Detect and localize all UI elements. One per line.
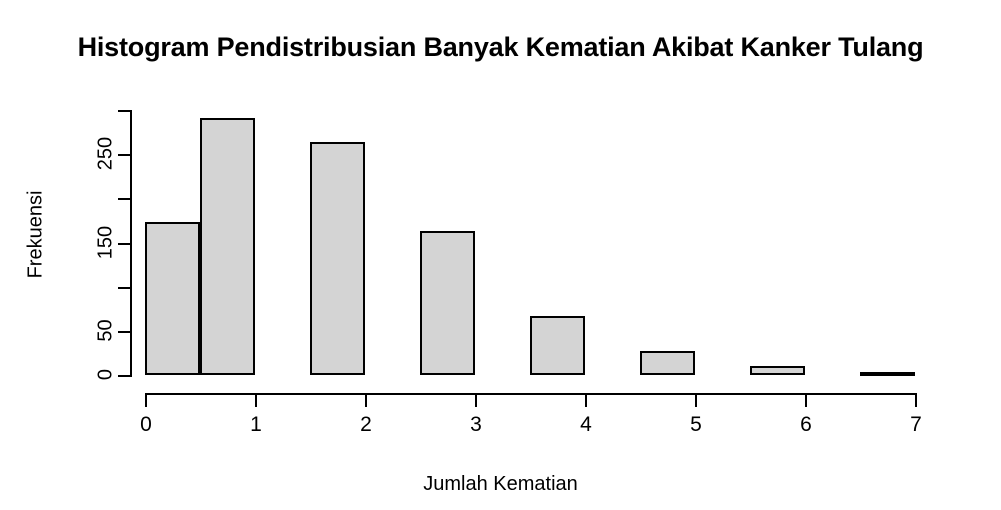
- histogram-bar: [145, 222, 200, 375]
- x-axis-tick: [255, 393, 257, 407]
- x-axis-tick-label: 0: [126, 413, 166, 437]
- y-axis-tick: [118, 287, 132, 289]
- histogram-bar: [530, 316, 585, 375]
- x-axis-tick-label: 4: [566, 413, 606, 437]
- y-axis-tick: [118, 154, 132, 156]
- x-axis-tick: [475, 393, 477, 407]
- histogram-bar: [310, 142, 365, 375]
- x-axis-tick: [585, 393, 587, 407]
- x-axis-tick-label: 6: [786, 413, 826, 437]
- histogram-bar: [860, 372, 915, 376]
- x-axis-tick-label: 3: [456, 413, 496, 437]
- x-axis-tick-label: 7: [896, 413, 936, 437]
- x-axis-tick: [365, 393, 367, 407]
- x-axis-tick: [915, 393, 917, 407]
- histogram-plot: Histogram Pendistribusian Banyak Kematia…: [0, 0, 1001, 510]
- y-axis-tick-label: 250: [95, 124, 118, 184]
- y-axis-tick-label: 50: [95, 300, 118, 360]
- x-axis-tick-label: 1: [236, 413, 276, 437]
- y-axis-tick: [118, 375, 132, 377]
- plot-panel: 05015025001234567: [0, 0, 1001, 510]
- x-axis-tick-label: 5: [676, 413, 716, 437]
- y-axis-tick: [118, 331, 132, 333]
- y-axis-tick: [118, 243, 132, 245]
- histogram-bar: [420, 231, 475, 375]
- x-axis-line: [145, 393, 917, 395]
- x-axis-tick: [695, 393, 697, 407]
- x-axis-tick: [145, 393, 147, 407]
- histogram-bar: [200, 118, 255, 375]
- x-axis-tick: [805, 393, 807, 407]
- y-axis-tick-label: 150: [95, 212, 118, 272]
- histogram-bar: [640, 351, 695, 375]
- y-axis-tick: [118, 198, 132, 200]
- y-axis-tick: [118, 110, 132, 112]
- histogram-bar: [750, 366, 805, 375]
- x-axis-tick-label: 2: [346, 413, 386, 437]
